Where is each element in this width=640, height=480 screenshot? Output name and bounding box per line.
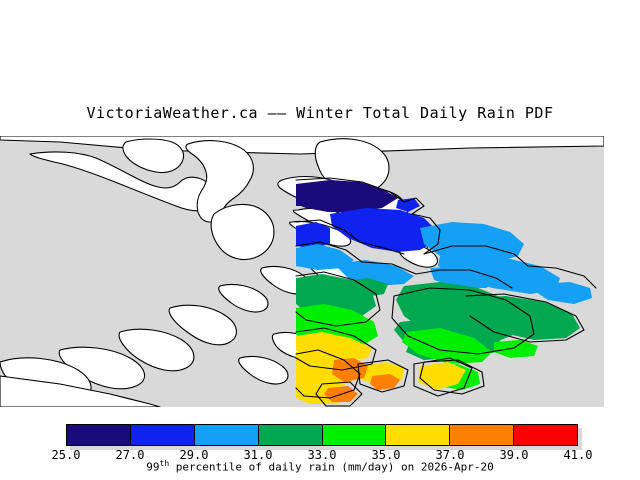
weather-map-page: VictoriaWeather.ca —— Winter Total Daily… <box>0 0 640 480</box>
contour-band-28b <box>296 222 330 248</box>
colorbar-segment-39.0-41.0[interactable] <box>514 425 577 445</box>
caption-prefix: 99 <box>146 461 159 474</box>
colorbar-caption: 99th percentile of daily rain (mm/day) o… <box>0 459 640 474</box>
colorbar-segment-31.0-33.0[interactable] <box>259 425 323 445</box>
colorbar-segment-35.0-37.0[interactable] <box>386 425 450 445</box>
caption-superscript: th <box>160 459 170 468</box>
contour-band-26b <box>296 184 318 206</box>
colorbar-segment-25.0-27.0[interactable] <box>67 425 131 445</box>
colorbar-segment-29.0-31.0[interactable] <box>195 425 259 445</box>
map-canvas[interactable] <box>0 136 604 407</box>
colorbar-segment-37.0-39.0[interactable] <box>450 425 514 445</box>
caption-suffix: percentile of daily rain (mm/day) on 202… <box>169 461 494 474</box>
map-panel[interactable] <box>0 136 604 407</box>
page-title: VictoriaWeather.ca —— Winter Total Daily… <box>0 104 640 122</box>
colorbar <box>66 424 578 446</box>
colorbar-segment-27.0-29.0[interactable] <box>131 425 195 445</box>
colorbar-segment-33.0-35.0[interactable] <box>323 425 387 445</box>
colorbar-segments[interactable] <box>66 424 578 446</box>
